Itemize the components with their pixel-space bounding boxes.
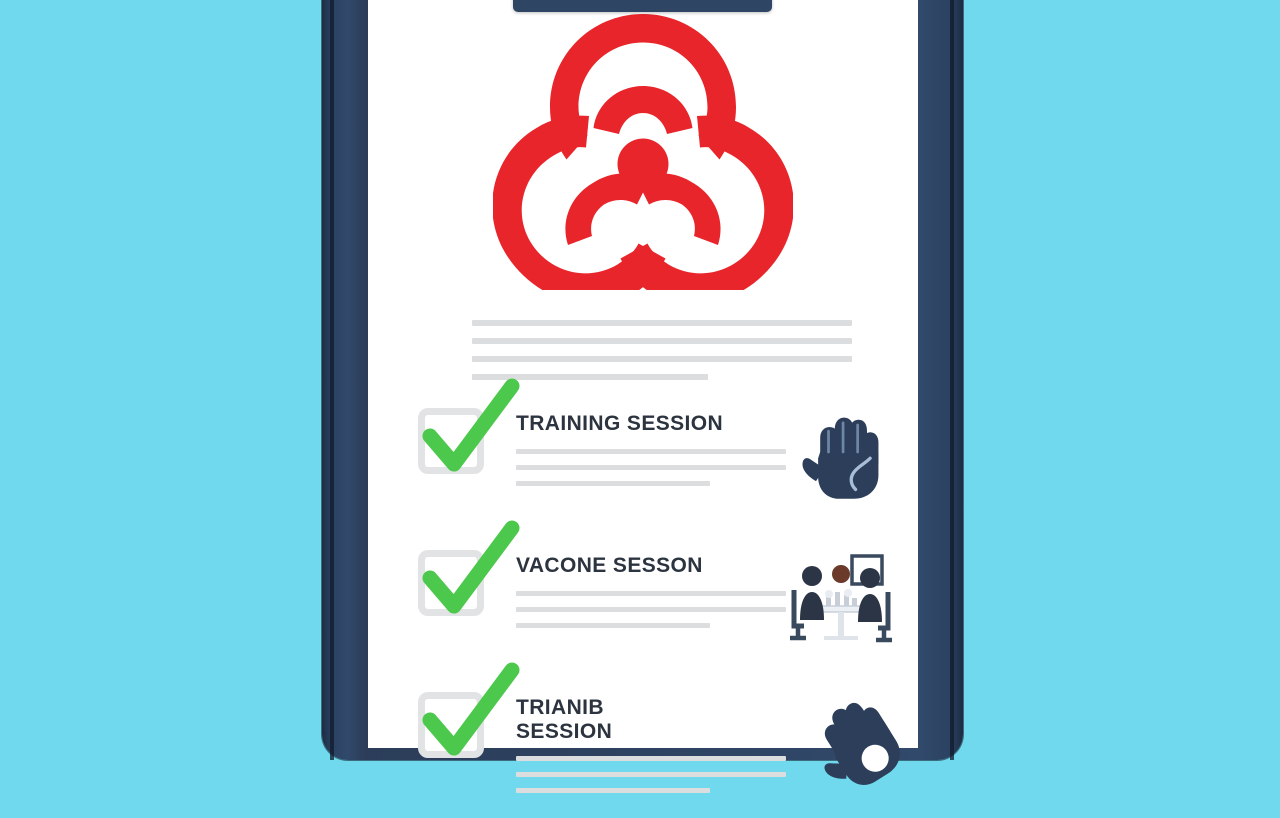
placeholder-line	[516, 591, 786, 596]
placeholder-line	[472, 356, 852, 362]
placeholder-line	[516, 788, 710, 793]
checklist-row[interactable]: TRAINING SESSION	[368, 392, 918, 534]
checklist-row[interactable]: TRIANIB SESSION	[368, 676, 918, 818]
placeholder-line	[516, 607, 786, 612]
checklist-item-placeholder-text	[516, 591, 786, 628]
checklist-item-placeholder-text	[516, 756, 786, 793]
placeholder-line	[516, 756, 786, 761]
phone-notch	[513, 0, 772, 12]
checkbox-checked[interactable]	[418, 692, 494, 768]
checklist-item-placeholder-text	[516, 449, 786, 486]
checklist: TRAINING SESSION	[368, 392, 918, 818]
checklist-row-body: VACONE SESSON	[516, 554, 786, 628]
hero-placeholder-text	[472, 320, 852, 380]
placeholder-line	[516, 449, 786, 454]
placeholder-line	[516, 481, 710, 486]
glove-icon	[786, 400, 896, 504]
placeholder-line	[472, 320, 852, 326]
placeholder-line	[516, 772, 786, 777]
placeholder-line	[472, 374, 708, 380]
checklist-item-title: TRAINING SESSION	[516, 412, 786, 436]
phone-bezel-edge-left	[330, 0, 334, 760]
phone-bezel-edge-right	[950, 0, 954, 760]
checkbox-checked[interactable]	[418, 550, 494, 626]
checklist-item-title: VACONE SESSON	[516, 554, 786, 578]
check-icon	[416, 526, 520, 622]
check-icon	[416, 384, 520, 480]
checklist-row-body: TRAINING SESSION	[516, 412, 786, 486]
checklist-row[interactable]: VACONE SESSON	[368, 534, 918, 676]
checklist-row-body: TRIANIB SESSION	[516, 696, 786, 793]
meeting-icon	[786, 542, 896, 646]
checkbox-checked[interactable]	[418, 408, 494, 484]
placeholder-line	[516, 623, 710, 628]
placeholder-line	[516, 465, 786, 470]
biohazard-icon	[368, 8, 918, 290]
glove-icon	[778, 668, 926, 814]
check-icon	[416, 668, 520, 764]
placeholder-line	[472, 338, 852, 344]
